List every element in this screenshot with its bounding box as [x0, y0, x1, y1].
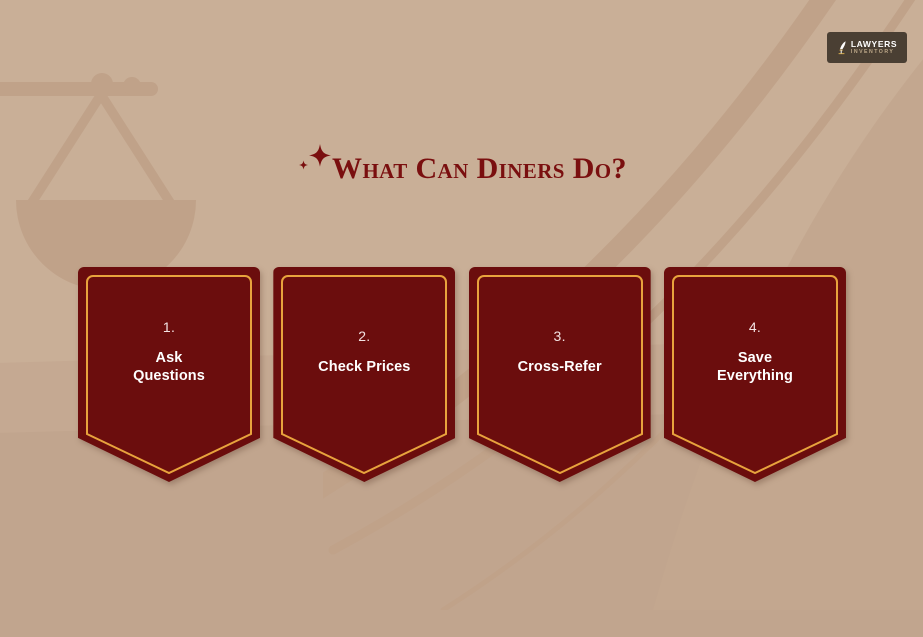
- cards-row: 1. Ask Questions 2. Check Prices 3. Cros…: [78, 267, 846, 482]
- lawyers-inventory-logo[interactable]: LAWYERS INVENTORY: [827, 32, 907, 63]
- card-content: 1. Ask Questions: [78, 267, 260, 438]
- card-content: 4. Save Everything: [664, 267, 846, 438]
- card-title: Ask Questions: [133, 349, 205, 386]
- card-title: Save Everything: [717, 349, 793, 386]
- card-content: 3. Cross-Refer: [469, 267, 651, 438]
- card-ask-questions[interactable]: 1. Ask Questions: [78, 267, 260, 482]
- logo-secondary-text: INVENTORY: [851, 50, 897, 55]
- sparkle-icon: [296, 134, 336, 178]
- card-save-everything[interactable]: 4. Save Everything: [664, 267, 846, 482]
- card-title: Cross-Refer: [518, 358, 602, 377]
- card-content: 2. Check Prices: [273, 267, 455, 438]
- card-number: 3.: [554, 328, 566, 344]
- card-title: Check Prices: [318, 358, 410, 377]
- card-check-prices[interactable]: 2. Check Prices: [273, 267, 455, 482]
- page-title: What Can Diners Do?: [332, 152, 627, 186]
- card-number: 1.: [163, 319, 175, 335]
- card-number: 4.: [749, 319, 761, 335]
- quill-pen-icon: [837, 40, 847, 56]
- card-number: 2.: [358, 328, 370, 344]
- page-heading: What Can Diners Do?: [0, 152, 923, 186]
- logo-primary-text: LAWYERS: [851, 40, 897, 49]
- card-cross-refer[interactable]: 3. Cross-Refer: [469, 267, 651, 482]
